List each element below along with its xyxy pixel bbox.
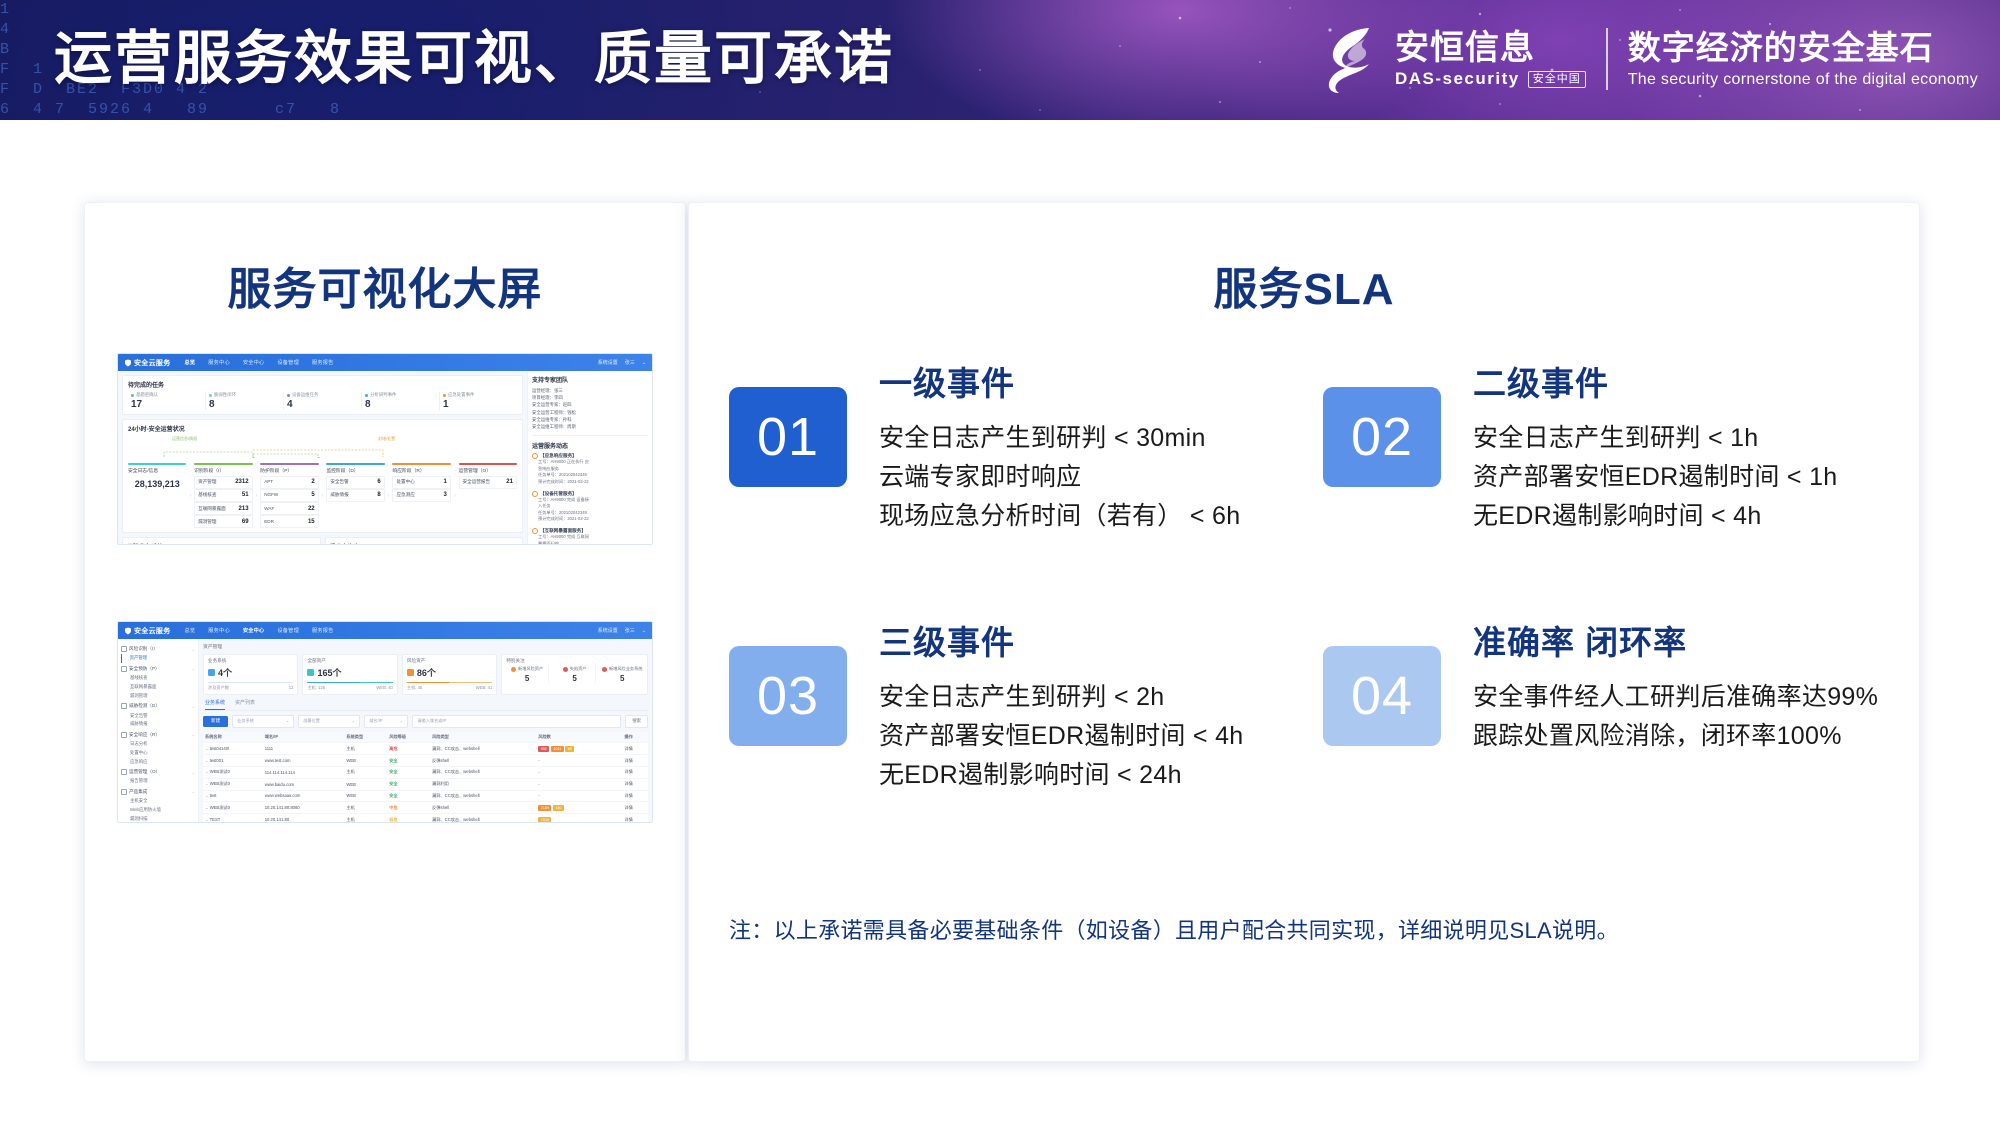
cell-risk-count: 952101160 (536, 743, 622, 755)
sla-line: 安全事件经人工研判后准确率达99% (1473, 678, 1878, 717)
stage-metric-label: 资产管理 (198, 479, 216, 485)
stage-metric-value: 5 (311, 492, 314, 498)
select-value: 业务系统 (237, 718, 254, 724)
expert-entry: 安全运营专家：赵四 (532, 401, 648, 408)
cell-risk-level: 中危 (387, 802, 430, 814)
expert-entry: 安全运维专家：孙科 (532, 416, 648, 423)
folder-icon (121, 666, 127, 672)
status-dot-icon (209, 394, 212, 397)
table-row[interactable]: ⌄ test001www.test.comWEB安全反弹shell-详情 (203, 755, 648, 767)
service-feed-title: 运营服务动态 (532, 441, 648, 450)
cell-risk-type: 漏洞利用 (430, 778, 536, 790)
feed-line: 预计完成时间：2021-02-22 (532, 479, 648, 486)
folder-icon (121, 646, 127, 652)
cell-system-type: 主机 (344, 814, 387, 823)
chevron-down-icon[interactable]: ⌄ (192, 647, 195, 652)
kpi-value: 8 (209, 399, 283, 410)
detail-link[interactable]: 详情 (622, 767, 648, 779)
cell-system-name: ⌄ WEB测试0 (203, 778, 263, 790)
expert-entry: 项目经理：李四 (532, 394, 648, 401)
attacked-assets-table-card: 受攻击资产TOP10 排行 资产IP 安全事件数量 详情 1 (325, 537, 524, 545)
stage-metric-label: WAF (264, 506, 274, 512)
breadcrumb: 资产管理 (203, 643, 648, 650)
stat-underline (307, 682, 392, 683)
expand-chevron-icon[interactable]: ⌄ (205, 793, 210, 798)
chevron-down-icon[interactable]: ⌄ (642, 360, 646, 366)
system-settings-link[interactable]: 系统设置 (598, 627, 618, 634)
sidebar-item-asset-mgmt[interactable]: 资产管理 (121, 654, 195, 663)
chevron-down-icon[interactable]: ⌄ (192, 704, 195, 709)
cell-risk-type: 漏洞、CC攻击、webshell (430, 790, 536, 802)
sidebar-item-internet-exposure[interactable]: 互联网暴露面 (121, 683, 195, 692)
cell-risk-count: 1548 (536, 814, 622, 823)
col-domain-ip: 域名/IP (263, 732, 345, 743)
expert-entry: 安全运维工程师：周斯 (532, 423, 648, 430)
kpi-tile[interactable]: 分析研判事件 8 (362, 392, 440, 410)
table-row[interactable]: ⌄ WEB测试0114.114.114.114主机安全漏洞、CC攻击、websh… (203, 767, 648, 779)
stat-value: 86个 (417, 666, 436, 679)
select-deploy-location[interactable]: 部署位置⌄ (298, 715, 360, 728)
feed-item[interactable]: 【设备托管服务】 工号：AH9000 完成 设备接 入任务 任务单号：20210… (532, 491, 648, 523)
sla-line: 云端专家即时响应 (879, 458, 1240, 497)
sidebar-item-report-mgmt[interactable]: 报告管理 (121, 777, 195, 786)
security-ops-card: 24小时-安全运营状况 运营信息/情报 封堵/处置 (122, 419, 523, 533)
page-header-banner: 1 4 B F 1 F D BE2 F3D0 4 2 6 4 7 5926 4 … (0, 0, 2000, 120)
expand-chevron-icon[interactable]: ⌄ (205, 758, 210, 763)
sidebar-item-emergency-response[interactable]: 应急响应 (121, 757, 195, 766)
cell-risk-count: - (536, 755, 622, 767)
chevron-down-icon: ⌄ (400, 718, 404, 724)
feed-line: 暴露面扫描 (532, 541, 648, 545)
detail-link[interactable]: 详情 (622, 755, 648, 767)
chevron-down-icon[interactable]: ⌄ (192, 666, 195, 671)
risk-systems-table-card: 风险业务系统TOP10 排行 资产名称 资产IP/域名 风险类型 数量 详情 (122, 537, 321, 545)
stage-column: 防护阶段（P） APT2 NGFW5 WAF22 EDR15 (260, 463, 318, 528)
sidebar-group-label: 安全预防（P） (129, 666, 160, 672)
create-button[interactable]: 新建 (203, 716, 228, 727)
stage-metric-value: 3 (444, 492, 447, 498)
alert-icon (602, 667, 607, 672)
sla-item-level-1: 01 一级事件 安全日志产生到研判 < 30min 云端专家即时响应 现场应急分… (729, 353, 1295, 536)
cell-system-name: ⌄ test04140l (203, 743, 263, 755)
sidebar-item-waf[interactable]: Web应用防火墙 (121, 806, 195, 815)
expand-chevron-icon[interactable]: ⌄ (205, 781, 210, 786)
risk-systems-title: 风险业务系统TOP10 (127, 542, 316, 545)
kpi-label: 脆弱性闭环 (214, 392, 236, 398)
stage-metric-value: 1 (444, 479, 447, 485)
system-settings-link[interactable]: 系统设置 (598, 359, 618, 366)
cell-domain-ip: 114.114.114.114 (263, 767, 345, 779)
clock-icon (532, 491, 538, 497)
focus-value: 5 (601, 674, 643, 683)
kpi-value: 17 (131, 399, 205, 410)
kpi-tile[interactable]: 基题密确认 17 (128, 392, 206, 410)
flow-label-left: 运营信息/情报 (172, 436, 197, 442)
asset-management-screenshot[interactable]: 安全云服务 总览 服务中心 安全中心 设备管理 服务报告 系统设置 张三 ⌄ 风… (117, 621, 653, 823)
tab-business-systems[interactable]: 业务系统 (205, 699, 225, 710)
visualization-panel: 服务可视化大屏 安全云服务 总览 服务中心 安全中心 设备管理 服务报告 系统设… (84, 202, 686, 1062)
stage-metric-label: 威胁情报 (330, 492, 348, 498)
kpi-value: 4 (287, 399, 361, 410)
kpi-tile[interactable]: 脆弱性闭环 8 (206, 392, 284, 410)
chevron-down-icon[interactable]: ⌄ (192, 770, 195, 775)
security-ops-title: 24小时-安全运营状况 (128, 424, 517, 433)
filter-toolbar[interactable]: 新建 业务系统⌄ 部署位置⌄ 域名/IP⌄ 请输入域名或IP 搜索 (203, 715, 648, 728)
sidebar-item-baseline-check[interactable]: 基线核查 (121, 674, 195, 683)
feed-line: 工号：AH9000 完成 互联网 (532, 534, 648, 541)
chevron-right-icon: › (322, 493, 324, 499)
sidebar-group-security-prevention[interactable]: 安全预防（P）⌄ (121, 666, 195, 672)
stage-name: 运营管理（O） (459, 467, 517, 474)
cell-risk-level: 安全 (387, 778, 430, 790)
risk-count-chip: 150 (553, 805, 564, 811)
chevron-down-icon: ⌄ (352, 718, 356, 724)
dashboard-b-nav-right[interactable]: 系统设置 张三 ⌄ (598, 627, 646, 634)
cell-domain-ip: 1111 (263, 743, 345, 755)
detail-link[interactable]: 详情 (622, 814, 648, 823)
stage-metric-value: 2 (311, 479, 314, 485)
focus-label: 失陷资产 (570, 666, 587, 672)
chevron-right-icon: › (189, 493, 191, 499)
stage-metric-value: 22 (308, 506, 315, 512)
stat-foot-value: 12 (289, 685, 294, 691)
brand-name-cn: 安恒信息 (1395, 29, 1586, 67)
focus-title: 特别关注 (506, 658, 643, 664)
expand-chevron-icon[interactable]: ⌄ (205, 805, 210, 810)
chevron-right-icon: › (388, 493, 390, 499)
stage-metric-label: 安全运营报告 (463, 479, 491, 485)
flow-connector-lines (128, 449, 528, 458)
sla-heading: 三级事件 (879, 616, 1243, 664)
focus-value: 5 (506, 674, 548, 683)
brand-slogan-cn: 数字经济的安全基石 (1628, 29, 1978, 66)
stage-color-bar (326, 463, 384, 465)
risk-count-chip: 1011 (551, 746, 564, 752)
kpi-tile[interactable]: 设备运维任务 4 (284, 392, 362, 410)
select-value: 部署位置 (303, 718, 320, 724)
stage-total-value: 28,139,213 (128, 476, 186, 492)
status-dot-icon (365, 394, 368, 397)
detail-link[interactable]: 详情 (622, 778, 648, 790)
table-header-row: 系统名称 域名/IP 系统类型 风险等级 风险类型 风险数 操作 (203, 732, 648, 743)
brand-name-en: DAS-security (1395, 69, 1520, 89)
cell-domain-ip: 10.20.141.80 (263, 814, 345, 823)
folder-icon (121, 703, 127, 709)
stage-metric-value: 69 (242, 519, 249, 525)
dashboard-b-logo-text: 安全云服务 (134, 626, 171, 636)
risk-count-chip: 952 (538, 746, 549, 752)
chevron-down-icon: ⌄ (286, 718, 290, 724)
select-domain-or-ip[interactable]: 域名/IP⌄ (364, 715, 408, 728)
brand-logo: 安恒信息 DAS-security 安全中国 数字经济的安全基石 The sec… (1319, 16, 1978, 102)
warning-icon (407, 669, 414, 676)
stage-column: 响应阶段（R） 处置中心1 应急测应3 (392, 463, 450, 528)
focus-cell: 新增风险业务系统 5 (601, 666, 643, 683)
stat-title: 业务系统 (208, 658, 293, 664)
dashboard-a-sidebar: 支持专家团队 运营经理：张三 项目经理：李四 安全运营专家：赵四 安全运营工程师… (527, 371, 652, 544)
nav-item-device-mgmt[interactable]: 设备管理 (277, 359, 299, 366)
feed-line: 工号：AH9000 正在执行 应 (532, 459, 648, 466)
nav-item-security-center[interactable]: 安全中心 (243, 627, 265, 634)
stage-metric-label: 安全告警 (330, 479, 348, 485)
sidebar-item-log-analysis[interactable]: 日志分析 (121, 740, 195, 749)
cell-system-name: ⌄ WEB测试0 (203, 767, 263, 779)
dashboard-b-sidebar[interactable]: 风险识别（I）⌄ 资产管理 安全预防（P）⌄ 基线核查 互联网暴露面 漏洞管理 … (118, 639, 199, 822)
sla-footnote: 注：以上承诺需具备必要基础条件（如设备）且用户配合共同实现，详细说明见SLA说明… (729, 913, 1879, 945)
focus-label: 新增风险资产 (518, 666, 543, 672)
pending-tasks-card: 待完成的任务 基题密确认 17 脆弱性闭环 8 设备运维任务 4 (122, 375, 523, 415)
sla-item-level-2: 02 二级事件 安全日志产生到研判 < 1h 资产部署安恒EDR遏制时间 < 1… (1323, 353, 1889, 536)
user-menu[interactable]: 张三 (625, 359, 635, 366)
sla-line: 跟踪处置风险消除，闭环率100% (1473, 717, 1878, 756)
dashboard-a-nav-right[interactable]: 系统设置 张三 ⌄ (598, 359, 646, 366)
dashboard-b-menu[interactable]: 总览 服务中心 安全中心 设备管理 服务报告 (185, 627, 334, 634)
kpi-label: 应急处置事件 (448, 392, 474, 398)
sla-heading: 一级事件 (879, 357, 1240, 405)
stage-metric-label: 互联网暴露面 (198, 506, 226, 512)
sidebar-group-security-response[interactable]: 安全响应（R）⌄ (121, 732, 195, 738)
chevron-down-icon[interactable]: ⌄ (192, 732, 195, 737)
sidebar-group-label: 安全响应（R） (129, 732, 160, 738)
chevron-down-icon[interactable]: ⌄ (642, 628, 646, 634)
sidebar-group-product-integration[interactable]: 产品集成⌄ (121, 789, 195, 795)
feed-line: 预计完成时间：2021-02-22 (532, 516, 648, 523)
alert-icon (511, 667, 516, 672)
cell-risk-type: 漏洞、CC攻击、webshell (430, 743, 536, 755)
nav-item-overview[interactable]: 总览 (185, 627, 196, 634)
col-system-name: 系统名称 (203, 732, 263, 743)
stage-metric-value: 15 (308, 519, 315, 525)
cell-system-type: 主机 (344, 743, 387, 755)
stage-name: 安全日志/信息 (128, 467, 186, 474)
user-menu[interactable]: 张三 (625, 627, 635, 634)
attacked-assets-title: 受攻击资产TOP10 (330, 542, 519, 545)
alert-icon (563, 667, 568, 672)
stat-title: 风险资产 (407, 658, 492, 664)
table-row[interactable]: ⌄ WEB测试0www.baidu.comWEB安全漏洞利用-详情 (203, 778, 648, 790)
stage-name: 监控阶段（D） (326, 467, 384, 474)
page-title: 运营服务效果可视、质量可承诺 (54, 14, 894, 104)
cell-risk-count: - (536, 767, 622, 779)
detail-link[interactable]: 详情 (622, 790, 648, 802)
risk-count-chip: 1548 (538, 817, 551, 823)
detail-link[interactable]: 详情 (622, 743, 648, 755)
sla-line: 安全日志产生到研判 < 30min (879, 419, 1240, 458)
feed-item[interactable]: 【互联网暴露面服务】 工号：AH9000 完成 互联网 暴露面扫描 任务单号：2… (532, 528, 648, 545)
col-risk-type: 风险类型 (430, 732, 536, 743)
sla-line: 资产部署安恒EDR遏制时间 < 1h (1473, 458, 1837, 497)
stage-column: 运营管理（O） 安全运营报告21 (459, 463, 517, 528)
cell-risk-level: 安全 (387, 790, 430, 802)
focus-cell: 新增风险资产 5 (506, 666, 549, 683)
focus-cell: 失陷资产 5 (554, 666, 597, 683)
feed-line: 入任务 (532, 503, 648, 510)
stage-column: 监控阶段（D） 安全告警6 威胁情报8 (326, 463, 384, 528)
table-row[interactable]: ⌄ test04140l1111主机高危漏洞、CC攻击、webshell9521… (203, 743, 648, 755)
sla-line: 现场应急分析时间（若有） < 6h (879, 497, 1240, 536)
risk-count-chip: 60 (565, 746, 574, 752)
expert-entry: 安全运营工程师：钱松 (532, 409, 648, 416)
flow-label-right: 封堵/处置 (378, 436, 395, 442)
stat-title: 全部资产 (307, 658, 392, 664)
sidebar-group-label: 运营管理（O） (129, 769, 160, 775)
kpi-value: 8 (365, 399, 439, 410)
sla-line: 安全日志产生到研判 < 2h (879, 678, 1243, 717)
dashboard-a-logo: 安全云服务 (124, 358, 171, 368)
stat-foot-label: 主机: 125 (307, 685, 325, 691)
expert-team-title: 支持专家团队 (532, 375, 648, 384)
cell-risk-count: 2159150 (536, 802, 622, 814)
sidebar-item-vuln-mgmt[interactable]: 漏洞管理 (121, 691, 195, 700)
tab-asset-list[interactable]: 资产列表 (235, 699, 255, 710)
feed-item[interactable]: 【应急响应服务】 工号：AH9000 正在执行 应 急响应服务 任务单号：202… (532, 453, 648, 485)
nav-item-service-report[interactable]: 服务报告 (312, 359, 334, 366)
sidebar-item-security-alerts[interactable]: 安全告警 (121, 711, 195, 720)
sidebar-group-threat-detection[interactable]: 威胁检测（D）⌄ (121, 703, 195, 709)
col-action: 操作 (622, 732, 648, 743)
nav-item-security-center[interactable]: 安全中心 (243, 359, 265, 366)
stage-color-bar (194, 463, 252, 465)
empty-value: - (538, 758, 539, 763)
stage-name: 响应阶段（R） (392, 467, 450, 474)
chevron-right-icon: › (256, 493, 258, 499)
table-row[interactable]: ⌄ WEB测试010.20.141.80:8060主机中危反弹shell2159… (203, 802, 648, 814)
kpi-value: 1 (443, 399, 517, 410)
nav-item-device-mgmt[interactable]: 设备管理 (277, 627, 299, 634)
expert-entry: 运营经理：张三 (532, 387, 648, 394)
empty-value: - (538, 793, 539, 798)
nav-item-overview[interactable]: 总览 (185, 359, 196, 366)
stat-underline (407, 682, 492, 683)
das-security-swoosh-icon (1319, 23, 1381, 95)
stage-metric-label: 处置中心 (396, 479, 414, 485)
folder-icon (121, 789, 127, 795)
dashboard-a-menu[interactable]: 总览 服务中心 安全中心 设备管理 服务报告 (185, 359, 334, 366)
table-row[interactable]: ⌄ testwww.websaas.comWEB安全漏洞、CC攻击、webshe… (203, 790, 648, 802)
nav-item-service-center[interactable]: 服务中心 (208, 359, 230, 366)
stage-column: 识别阶段（I） 资产管理2312 基线核查51 互联网暴露面213 漏洞管理69 (194, 463, 252, 528)
sidebar-group-risk-identification[interactable]: 风险识别（I）⌄ (121, 646, 195, 652)
feed-line: 任务单号：202102042349 (532, 472, 648, 479)
cell-system-name: ⌄ WEB测试0 (203, 802, 263, 814)
nav-item-service-center[interactable]: 服务中心 (208, 627, 230, 634)
sla-line: 资产部署安恒EDR遏制时间 < 4h (879, 717, 1243, 756)
empty-value: - (538, 782, 539, 787)
sidebar-item-vuln-scan[interactable]: 漏洞扫描 (121, 814, 195, 823)
search-input[interactable]: 请输入域名或IP (412, 715, 621, 728)
stage-name: 识别阶段（I） (194, 467, 252, 474)
sidebar-item-disposal-center[interactable]: 处置中心 (121, 748, 195, 757)
sidebar-group-ops-mgmt[interactable]: 运营管理（O）⌄ (121, 769, 195, 775)
cell-system-type: WEB (344, 755, 387, 767)
cell-risk-level: 低危 (387, 814, 430, 823)
stage-metric-value: 6 (377, 479, 380, 485)
sla-line: 无EDR遏制影响时间 < 24h (879, 756, 1243, 795)
right-panel-title: 服务SLA (689, 253, 1919, 317)
kpi-tile[interactable]: 应急处置事件 1 (440, 392, 517, 410)
stat-card-risk-assets: 风险资产 86个 主机: 45WEB: 41 (402, 654, 497, 695)
status-dot-icon (131, 394, 134, 397)
dashboard-overview-screenshot[interactable]: 安全云服务 总览 服务中心 安全中心 设备管理 服务报告 系统设置 张三 ⌄ 待… (117, 353, 653, 545)
stat-card-all-assets: 全部资产 165个 主机: 125WEB: 40 (302, 654, 397, 695)
stat-foot-value: WEB: 40 (376, 685, 393, 691)
nav-item-service-report[interactable]: 服务报告 (312, 627, 334, 634)
cell-risk-level: 安全 (387, 755, 430, 767)
sidebar-item-threat-intel[interactable]: 威胁情报 (121, 720, 195, 729)
stage-color-bar (128, 463, 186, 465)
status-dot-icon (443, 394, 446, 397)
risk-count-chip: 2159 (538, 805, 551, 811)
sla-number-badge: 03 (729, 646, 847, 746)
cell-domain-ip: www.baidu.com (263, 778, 345, 790)
cell-domain-ip: www.websaas.com (263, 790, 345, 802)
cell-risk-level: 安全 (387, 767, 430, 779)
sidebar-item-host-security[interactable]: 主机安全 (121, 797, 195, 806)
search-button[interactable]: 搜索 (625, 715, 648, 728)
cell-system-type: 主机 (344, 767, 387, 779)
stat-foot-value: WEB: 41 (476, 685, 493, 691)
expand-chevron-icon[interactable]: ⌄ (205, 769, 210, 774)
feed-tag: 【设备托管服务】 (540, 491, 577, 497)
stage-metric-value: 8 (377, 492, 380, 498)
col-risk-level: 风险等级 (387, 732, 430, 743)
expand-chevron-icon[interactable]: ⌄ (205, 746, 210, 751)
sla-panel: 服务SLA 01 一级事件 安全日志产生到研判 < 30min 云端专家即时响应… (688, 202, 1920, 1062)
stat-underline (208, 682, 293, 683)
content-tabs[interactable]: 业务系统 资产列表 (203, 699, 648, 711)
cell-system-type: WEB (344, 778, 387, 790)
focus-value: 5 (554, 674, 596, 683)
sla-items-grid: 01 一级事件 安全日志产生到研判 < 30min 云端专家即时响应 现场应急分… (729, 353, 1889, 795)
stage-column: 安全日志/信息 28,139,213 (128, 463, 186, 528)
sla-item-accuracy-closure: 04 准确率 闭环率 安全事件经人工研判后准确率达99% 跟踪处置风险消除，闭环… (1323, 612, 1889, 795)
brand-slogan-en: The security cornerstone of the digital … (1628, 70, 1978, 89)
cell-risk-type: 反弹shell (430, 802, 536, 814)
chevron-down-icon[interactable]: ⌄ (192, 789, 195, 794)
stage-metric-value: 51 (242, 492, 249, 498)
cell-risk-level: 高危 (387, 743, 430, 755)
col-system-type: 系统类型 (344, 732, 387, 743)
select-business-system[interactable]: 业务系统⌄ (232, 715, 294, 728)
cell-risk-type: 漏洞、CC攻击、webshell (430, 767, 536, 779)
cell-risk-type: 反弹shell (430, 755, 536, 767)
stage-metric-value: 21 (506, 479, 513, 485)
asset-icon (307, 669, 314, 676)
stage-metric-label: NGFW (264, 492, 278, 498)
table-row[interactable]: ⌄ TEST10.20.141.80主机低危漏洞、CC攻击、webshell15… (203, 814, 648, 823)
folder-icon (121, 769, 127, 775)
sla-number-badge: 01 (729, 387, 847, 487)
divider (532, 435, 648, 436)
cell-domain-ip: 10.20.141.80:8060 (263, 802, 345, 814)
focus-label: 新增风险业务系统 (609, 666, 643, 672)
stat-foot-label: 涉及资产数 (208, 685, 229, 691)
cell-system-name: ⌄ test001 (203, 755, 263, 767)
sidebar-group-label: 产品集成 (129, 789, 147, 795)
expand-chevron-icon[interactable]: ⌄ (205, 817, 210, 822)
stage-metric-label: 应急测应 (396, 492, 414, 498)
stage-metric-value: 2312 (235, 479, 248, 485)
chevron-right-icon: › (454, 493, 456, 499)
shield-icon (124, 359, 132, 367)
detail-link[interactable]: 详情 (622, 802, 648, 814)
stat-value: 4个 (218, 666, 232, 679)
cell-domain-ip: www.test.com (263, 755, 345, 767)
sla-item-level-3: 03 三级事件 安全日志产生到研判 < 2h 资产部署安恒EDR遏制时间 < 4… (729, 612, 1295, 795)
dashboard-b-logo: 安全云服务 (124, 626, 171, 636)
stage-metric-label: APT (264, 479, 273, 485)
status-dot-icon (287, 394, 290, 397)
